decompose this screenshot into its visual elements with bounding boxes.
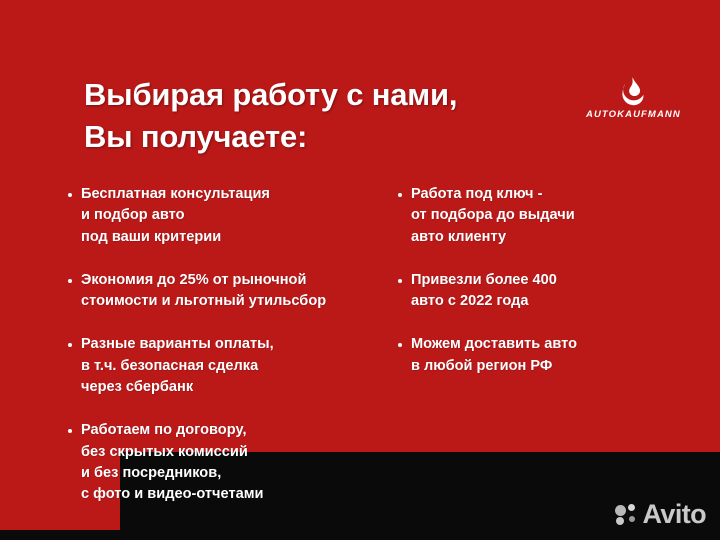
- bullet-dot-icon: [398, 193, 402, 197]
- bullet-dot-icon: [398, 343, 402, 347]
- benefit-text: Можем доставить авто в любой регион РФ: [411, 334, 577, 377]
- brand-name: AUTOKAUFMANN: [586, 109, 678, 120]
- list-item: Экономия до 25% от рыночной стоимости и …: [68, 270, 398, 313]
- bullet-dot-icon: [68, 279, 72, 283]
- flame-swoosh-icon: [615, 76, 649, 106]
- list-item: Привезли более 400 авто с 2022 года: [398, 270, 688, 313]
- avito-wordmark: Avito: [643, 501, 707, 528]
- bullet-dot-icon: [398, 279, 402, 283]
- benefit-text: Разные варианты оплаты, в т.ч. безопасна…: [81, 334, 274, 398]
- page-title: Выбирая работу с нами, Вы получаете:: [84, 74, 554, 157]
- promo-banner: Выбирая работу с нами, Вы получаете: AUT…: [0, 0, 720, 540]
- benefits-column-right: Работа под ключ - от подбора до выдачи а…: [398, 184, 688, 528]
- bullet-dot-icon: [68, 343, 72, 347]
- list-item: Можем доставить авто в любой регион РФ: [398, 334, 688, 377]
- benefit-text: Работа под ключ - от подбора до выдачи а…: [411, 184, 575, 248]
- benefit-text: Экономия до 25% от рыночной стоимости и …: [81, 270, 326, 313]
- bullet-dot-icon: [68, 429, 72, 433]
- black-strip-bottom: [0, 530, 720, 540]
- list-item: Работаем по договору, без скрытых комисс…: [68, 420, 398, 505]
- list-item: Бесплатная консультация и подбор авто по…: [68, 184, 398, 248]
- benefit-text: Бесплатная консультация и подбор авто по…: [81, 184, 270, 248]
- avito-watermark: Avito: [615, 501, 707, 528]
- benefits-columns: Бесплатная консультация и подбор авто по…: [68, 184, 688, 528]
- list-item: Работа под ключ - от подбора до выдачи а…: [398, 184, 688, 248]
- benefit-text: Работаем по договору, без скрытых комисс…: [81, 420, 263, 505]
- bullet-dot-icon: [68, 193, 72, 197]
- benefit-text: Привезли более 400 авто с 2022 года: [411, 270, 557, 313]
- brand-logo: AUTOKAUFMANN: [586, 76, 678, 120]
- benefits-column-left: Бесплатная консультация и подбор авто по…: [68, 184, 398, 528]
- avito-dots-icon: [615, 504, 638, 525]
- list-item: Разные варианты оплаты, в т.ч. безопасна…: [68, 334, 398, 398]
